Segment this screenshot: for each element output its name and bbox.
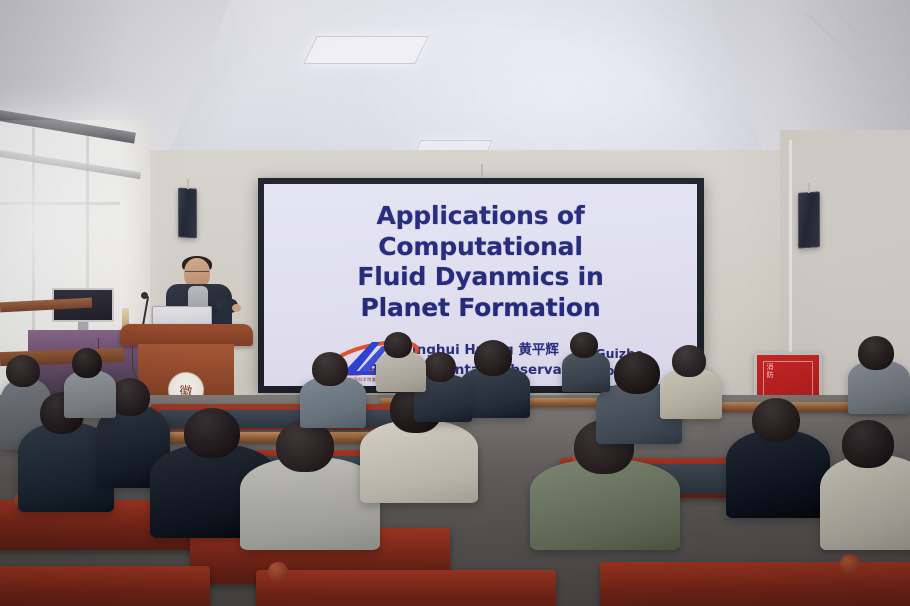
audience-member-torso xyxy=(726,430,830,518)
audience-member-head xyxy=(312,352,348,386)
audience-member-torso xyxy=(820,455,910,550)
podium-top-surface xyxy=(120,324,253,346)
audience-member xyxy=(726,398,830,518)
audience-member-head xyxy=(6,355,40,387)
fire-cabinet-label: 消防 xyxy=(765,363,773,379)
seat-row-1-right xyxy=(600,562,910,606)
lecture-hall-photo: Applications of Computational Fluid Dyan… xyxy=(0,0,910,606)
microphone-icon xyxy=(141,292,148,299)
audience-member xyxy=(64,348,116,418)
audience-member-head xyxy=(384,332,412,358)
seat-knob-1b xyxy=(840,554,860,574)
control-monitor-stand xyxy=(78,322,88,330)
window-mullion-horizontal xyxy=(0,202,120,205)
slide-title-line-2: Fluid Dyanmics in xyxy=(280,262,681,293)
audience-member-head xyxy=(184,408,240,458)
audience-member-head xyxy=(110,378,150,416)
audience-member-head xyxy=(858,336,894,370)
audience-member xyxy=(660,345,722,419)
audience-member xyxy=(376,332,426,392)
seat-row-1-left xyxy=(0,566,210,606)
audience-member xyxy=(820,420,910,550)
audience-member-head xyxy=(672,345,706,377)
audience-member-head xyxy=(570,332,598,358)
audience-member xyxy=(300,352,366,428)
audience-member xyxy=(562,332,610,392)
slide-title-line-1: Applications of Computational xyxy=(280,201,681,262)
audience-member xyxy=(240,420,380,550)
audience-member-head xyxy=(614,352,660,394)
audience-member-head xyxy=(424,352,456,382)
wall-speaker-left-icon xyxy=(178,188,197,239)
wall-speaker-right-icon xyxy=(798,191,820,249)
seat-knob-1a xyxy=(268,562,288,582)
audience-member-head xyxy=(474,340,512,376)
audience-member xyxy=(848,336,910,414)
presenter-glasses-icon xyxy=(185,271,209,277)
slide-title: Applications of Computational Fluid Dyan… xyxy=(280,201,681,323)
slide-title-line-3: Planet Formation xyxy=(280,293,681,324)
audience-member-head xyxy=(842,420,894,468)
audience-member-head xyxy=(72,348,102,378)
audience-member-head xyxy=(752,398,800,442)
seat-row-1-center xyxy=(256,570,556,606)
